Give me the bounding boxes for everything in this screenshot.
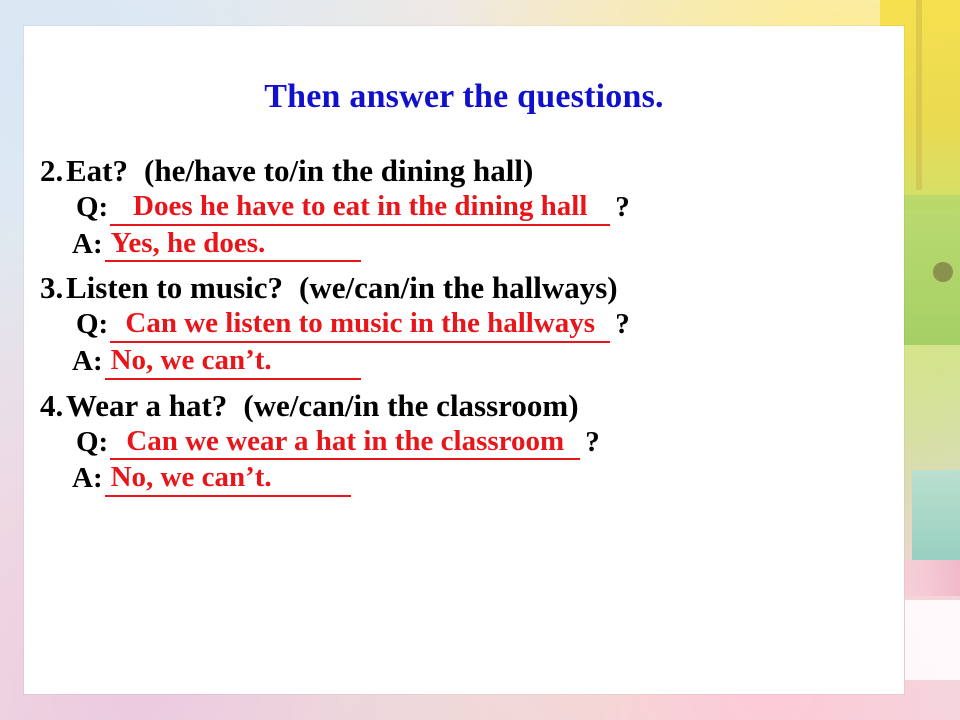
decorative-dot [933, 262, 953, 282]
answer-blank[interactable]: No, we can’t. [105, 343, 361, 380]
item-cue: (we/can/in the hallways) [283, 270, 618, 305]
question-label: Q: [76, 190, 108, 225]
decorative-stripe [916, 0, 922, 190]
question-answer-blank[interactable]: Can we wear a hat in the classroom [110, 424, 580, 461]
question-line: Q: Does he have to eat in the dining hal… [38, 190, 904, 227]
list-item: 2.Eat?(he/have to/in the dining hall) Q:… [38, 152, 904, 263]
decorative-teal-shape [912, 470, 960, 560]
question-label: Q: [76, 425, 108, 460]
question-mark: ? [612, 307, 630, 342]
item-number: 3. [40, 269, 66, 307]
item-cue: (he/have to/in the dining hall) [128, 153, 533, 188]
question-answer-blank[interactable]: Does he have to eat in the dining hall [110, 189, 610, 226]
item-number: 4. [40, 387, 66, 425]
answer-label: A: [72, 227, 103, 262]
answer-label: A: [72, 344, 103, 379]
prompt-line: 4.Wear a hat?(we/can/in the classroom) [38, 387, 904, 425]
slide-canvas: Then answer the questions. 2.Eat?(he/hav… [0, 0, 960, 720]
decorative-green-shape [900, 195, 960, 345]
question-mark: ? [582, 425, 600, 460]
question-label: Q: [76, 307, 108, 342]
questions-list: 2.Eat?(he/have to/in the dining hall) Q:… [38, 152, 904, 498]
item-prompt: Wear a hat? [66, 388, 227, 423]
question-line: Q: Can we listen to music in the hallway… [38, 307, 904, 344]
decorative-white-shape [905, 600, 960, 680]
answer-line: A: No, we can’t. [38, 344, 904, 381]
prompt-line: 3.Listen to music?(we/can/in the hallway… [38, 269, 904, 307]
slide-card: Then answer the questions. 2.Eat?(he/hav… [24, 26, 904, 694]
answer-line: A: No, we can’t. [38, 461, 904, 498]
answer-label: A: [72, 461, 103, 496]
item-cue: (we/can/in the classroom) [227, 388, 578, 423]
question-mark: ? [612, 190, 630, 225]
item-prompt: Eat? [66, 153, 128, 188]
answer-blank[interactable]: Yes, he does. [105, 226, 361, 263]
item-number: 2. [40, 152, 66, 190]
question-answer-blank[interactable]: Can we listen to music in the hallways [110, 306, 610, 343]
page-title: Then answer the questions. [24, 78, 904, 116]
prompt-line: 2.Eat?(he/have to/in the dining hall) [38, 152, 904, 190]
answer-line: A: Yes, he does. [38, 227, 904, 264]
list-item: 4.Wear a hat?(we/can/in the classroom) Q… [38, 387, 904, 498]
answer-blank[interactable]: No, we can’t. [105, 460, 351, 497]
question-line: Q: Can we wear a hat in the classroom ? [38, 425, 904, 462]
list-item: 3.Listen to music?(we/can/in the hallway… [38, 269, 904, 380]
item-prompt: Listen to music? [66, 270, 283, 305]
